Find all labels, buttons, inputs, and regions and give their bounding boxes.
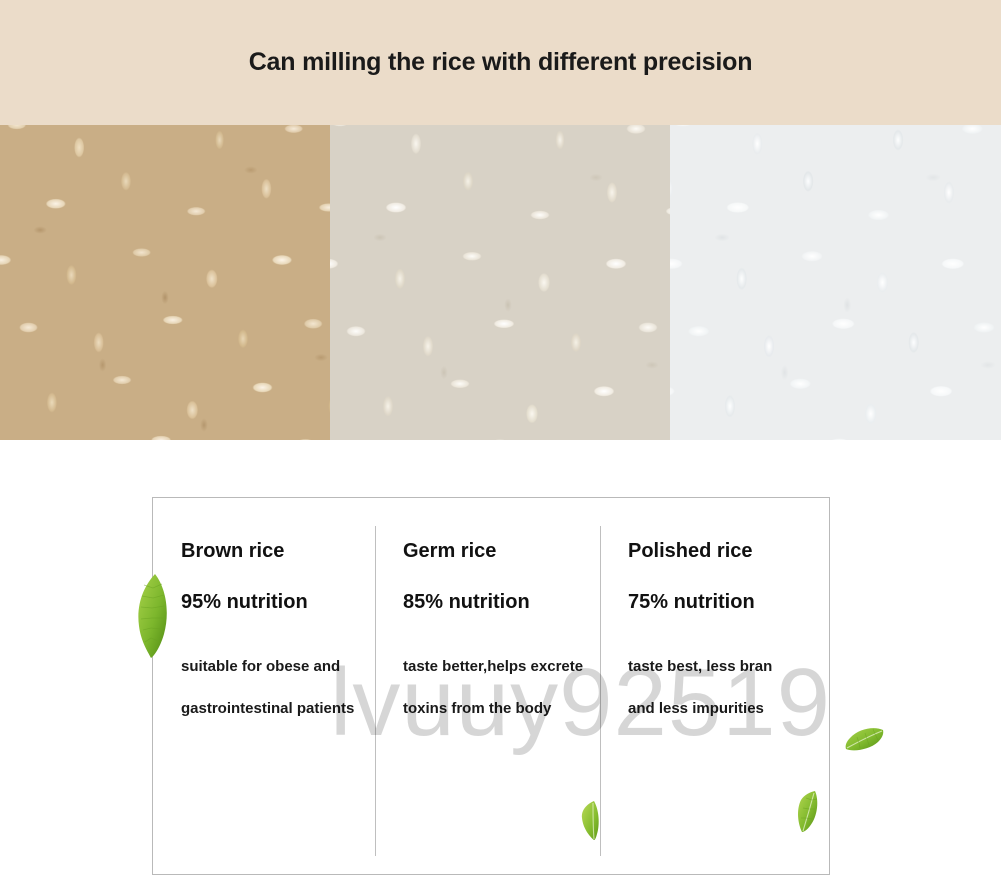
column-title: Polished rice — [628, 540, 753, 563]
rice-photo-strip — [0, 125, 1001, 440]
page-title: Can milling the rice with different prec… — [0, 0, 1001, 125]
header-banner: Can milling the rice with different prec… — [0, 0, 1001, 125]
rice-comparison-box: Brown rice 95% nutrition suitable for ob… — [152, 497, 830, 875]
brown-rice-photo — [0, 125, 330, 440]
germ-rice-photo — [330, 125, 670, 440]
rice-texture — [330, 125, 670, 440]
column-polished-rice: Polished rice 75% nutrition taste best, … — [628, 498, 820, 874]
column-description: taste better,helps excrete toxins from t… — [403, 646, 608, 730]
column-description: suitable for obese and gastrointestinal … — [181, 646, 386, 730]
rice-texture — [670, 125, 1001, 440]
column-title: Brown rice — [181, 540, 284, 563]
polished-rice-photo — [670, 125, 1001, 440]
column-title: Germ rice — [403, 540, 496, 563]
column-germ-rice: Germ rice 85% nutrition taste better,hel… — [403, 498, 595, 874]
leaf-icon — [845, 726, 885, 752]
column-nutrition: 95% nutrition — [181, 591, 308, 614]
column-description: taste best, less bran and less impuritie… — [628, 646, 803, 730]
column-brown-rice: Brown rice 95% nutrition suitable for ob… — [181, 498, 371, 874]
column-nutrition: 85% nutrition — [403, 591, 530, 614]
rice-texture — [0, 125, 330, 440]
column-nutrition: 75% nutrition — [628, 591, 755, 614]
